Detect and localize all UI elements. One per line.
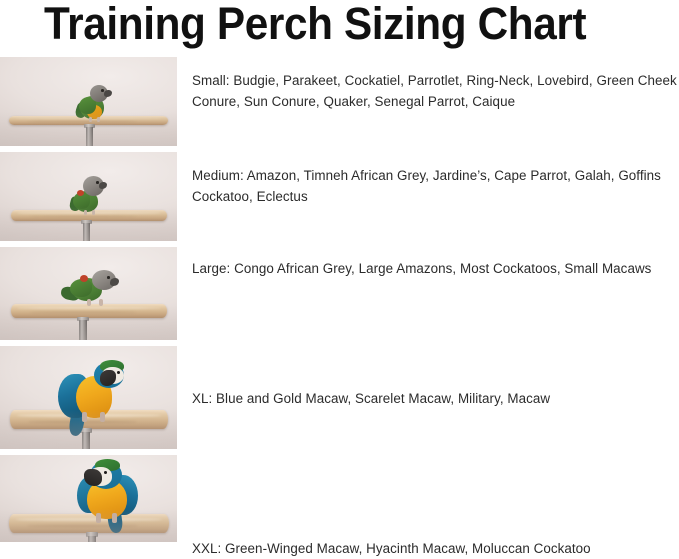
senegal-parrot-medium [68,173,110,215]
bird-beak [104,90,112,97]
photo-scene [0,247,177,340]
perch-photo-large [0,247,177,340]
bird-leg [87,299,91,306]
bird-leg [84,210,87,215]
photo-scene [0,152,177,241]
senegal-parrot-large [62,269,122,311]
perch-mount-cap [81,220,92,224]
bird-eye [101,89,104,92]
chart-row-xl: XL: Blue and Gold Macaw, Scarelet Macaw,… [0,346,679,449]
perch-bar-icon [10,410,168,429]
bird-shoulder-patch [77,190,84,196]
bird-beak [99,182,107,189]
perch-photo-small [0,57,177,146]
perch-bar-icon [9,116,168,125]
bird-foot [96,513,101,523]
perch-mount-cap [80,428,92,433]
page-title: Training Perch Sizing Chart [44,0,608,52]
bird-leg [99,299,103,306]
senegal-parrot-small [76,83,114,121]
perch-bar-icon [9,514,169,533]
chart-row-xxl: XXL: Green-Winged Macaw, Hyacinth Macaw,… [0,455,679,542]
chart-row-small: Small: Budgie, Parakeet, Cockatiel, Parr… [0,57,679,146]
perch-bar-icon [11,210,167,221]
bird-eye [107,276,110,279]
perch-bar-icon [11,304,167,318]
bird-tail [106,506,123,534]
perch-mount-cap [77,317,89,321]
perch-sizing-chart-page: { "title": "Training Perch Sizing Chart"… [0,0,679,542]
size-description-xxl: XXL: Green-Winged Macaw, Hyacinth Macaw,… [192,538,679,559]
bird-wing [70,279,92,297]
bird-beak [84,469,102,486]
bird-tail [68,407,87,437]
bird-shoulder-patch [80,275,88,282]
perch-mount-cap [84,124,95,128]
size-description-medium: Medium: Amazon, Timneh African Grey, Jar… [192,165,679,207]
photo-scene [0,346,177,449]
bird-leg [89,117,92,122]
bird-leg [92,210,95,215]
chart-row-large: Large: Congo African Grey, Large Amazons… [0,247,679,340]
size-description-small: Small: Budgie, Parakeet, Cockatiel, Parr… [192,70,679,112]
bird-foot [82,412,87,422]
photo-scene [0,455,177,542]
bird-foot [100,412,105,422]
perch-photo-medium [0,152,177,241]
perch-mount-post [86,127,93,146]
perch-mount-post [79,320,87,340]
bird-leg [97,117,100,122]
sizing-chart: Small: Budgie, Parakeet, Cockatiel, Parr… [0,57,679,542]
bird-eye [117,371,120,374]
perch-photo-xxl [0,455,177,542]
bird-beak [110,278,119,286]
size-description-large: Large: Congo African Grey, Large Amazons… [192,258,679,279]
perch-mount-cap [86,532,98,537]
perch-mount-post [82,432,90,449]
blue-and-gold-macaw-xxl [72,459,144,521]
bird-eye [104,471,107,474]
bird-foot [112,513,117,523]
blue-and-gold-macaw-xl [56,360,126,422]
photo-scene [0,57,177,146]
perch-mount-post [83,223,90,241]
perch-photo-xl [0,346,177,449]
chart-row-medium: Medium: Amazon, Timneh African Grey, Jar… [0,152,679,241]
bird-eye [96,181,99,184]
size-description-xl: XL: Blue and Gold Macaw, Scarelet Macaw,… [192,388,679,409]
perch-mount-post [88,536,96,542]
